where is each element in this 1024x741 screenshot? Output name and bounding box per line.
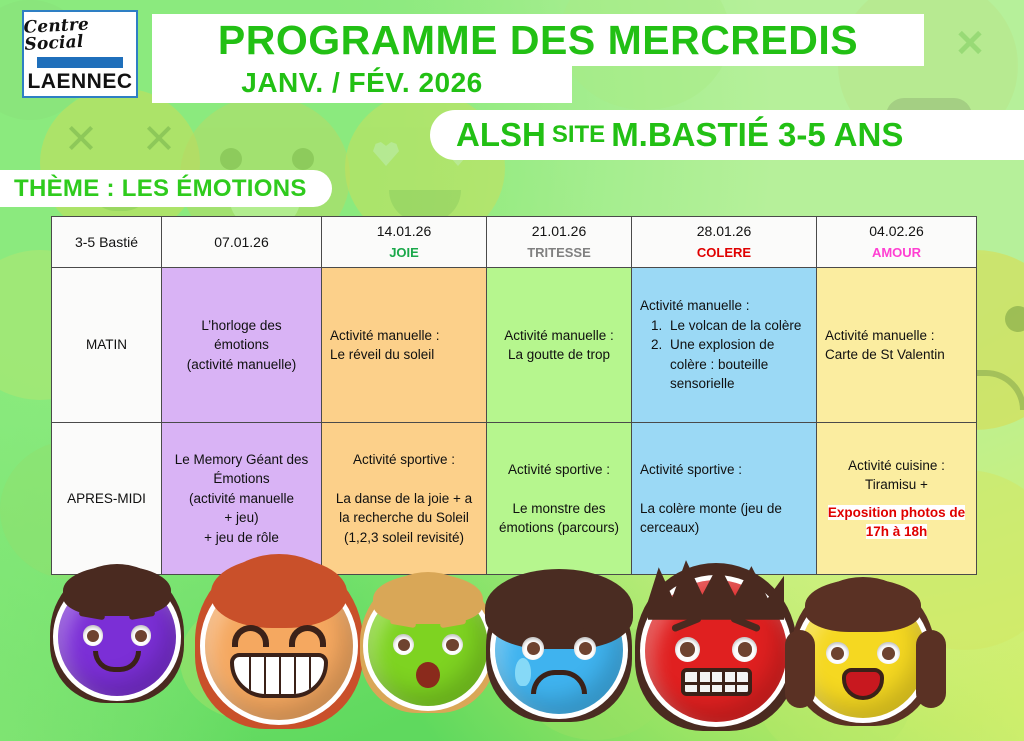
activity-text: Activité sportive : La danse de la joie …: [330, 450, 478, 548]
table-corner-cell: 3-5 Bastié: [52, 217, 162, 268]
activity-text: L’horloge des émotions (activité manuell…: [170, 316, 313, 375]
hair-fringe: [63, 566, 172, 616]
activity-cell: L’horloge des émotions (activité manuell…: [162, 268, 322, 423]
pupil: [882, 647, 895, 660]
eye-r: [131, 625, 152, 646]
row-label-matin: MATIN: [52, 268, 162, 423]
pupil: [527, 642, 540, 655]
eye-r: [732, 637, 757, 662]
activity-text: Activité cuisine : Tiramisu +: [825, 456, 968, 495]
activity-text: Activité sportive : Le monstre des émoti…: [495, 460, 623, 538]
column-emotion: AMOUR: [823, 244, 970, 263]
activity-text: Activité sportive : La colère monte (jeu…: [640, 460, 808, 538]
logo-script-text: Centre Social: [23, 14, 137, 54]
emoji-neutral-purple: [58, 578, 176, 696]
eye-r: [442, 634, 463, 655]
pupil: [135, 630, 147, 642]
pigtail-right: [916, 630, 946, 708]
activity-cell: Activité cuisine : Tiramisu +Exposition …: [817, 423, 977, 575]
column-date: 07.01.26: [168, 232, 315, 252]
activity-text: Activité manuelle : Le réveil du soleil: [330, 326, 478, 365]
pupil: [738, 642, 752, 656]
activity-cell: Activité sportive : Le monstre des émoti…: [487, 423, 632, 575]
hair-fringe: [211, 557, 347, 628]
alsh-site-name: M.BASTIÉ 3-5 ANS: [611, 116, 903, 154]
pupil: [446, 639, 458, 651]
row-label-apres-midi: APRES-MIDI: [52, 423, 162, 575]
activity-text: Le Memory Géant des Émotions (activité m…: [170, 450, 313, 548]
emoji-anger-red: [645, 580, 787, 722]
page-title: PROGRAMME DES MERCREDIS: [218, 17, 858, 64]
column-date: 14.01.26: [328, 221, 480, 241]
theme-banner: THÈME : LES ÉMOTIONS: [0, 170, 332, 207]
column-emotion: TRITESSE: [493, 244, 625, 263]
activity-list: Le volcan de la colèreUne explosion de c…: [640, 316, 808, 394]
pupil: [680, 642, 694, 656]
alsh-site-word: SITE: [552, 121, 605, 149]
pupil: [87, 630, 99, 642]
mouth: [230, 653, 328, 697]
poster-title-banner: PROGRAMME DES MERCREDIS: [152, 14, 924, 66]
eye-r: [574, 637, 596, 659]
activity-cell: Activité manuelle : La goutte de trop: [487, 268, 632, 423]
mouth: [416, 662, 440, 688]
page-subtitle: JANV. / FÉV. 2026: [241, 67, 482, 99]
column-date: 04.02.26: [823, 221, 970, 241]
emoji-surprise-green: [368, 586, 488, 706]
alsh-prefix: ALSH: [456, 116, 546, 154]
logo-name-text: LAENNEC: [27, 71, 132, 92]
corner-label: 3-5 Bastié: [58, 232, 155, 252]
eye-l: [522, 637, 544, 659]
eye-l: [83, 625, 104, 646]
poster-subtitle-banner: JANV. / FÉV. 2026: [152, 63, 572, 103]
activity-list-item: Le volcan de la colère: [666, 316, 808, 336]
eye-l: [826, 642, 848, 664]
column-date: 28.01.26: [638, 221, 810, 241]
theme-label: THÈME : LES ÉMOTIONS: [14, 175, 307, 203]
poster-canvas: Centre Social LAENNEC PROGRAMME DES MERC…: [0, 0, 1024, 741]
tear-drop: [515, 658, 530, 686]
activity-cell: Activité manuelle : Le réveil du soleil: [322, 268, 487, 423]
table-row: MATINL’horloge des émotions (activité ma…: [52, 268, 977, 423]
emoji-joy-orange: [205, 572, 353, 720]
logo-centre-social-laennec: Centre Social LAENNEC: [22, 10, 138, 98]
activity-cell: Activité manuelle :Le volcan de la colèr…: [632, 268, 817, 423]
program-table: 3-5 Bastié07.01.2614.01.26JOIE21.01.26TR…: [51, 216, 977, 575]
column-emotion: JOIE: [328, 244, 480, 263]
hair-fringe: [485, 569, 633, 648]
table-header-cell: 14.01.26JOIE: [322, 217, 487, 268]
pigtail-left: [785, 630, 815, 708]
activity-cell: Activité manuelle : Carte de St Valentin: [817, 268, 977, 423]
column-emotion: COLERE: [638, 244, 810, 263]
pupil: [831, 647, 844, 660]
logo-blue-bar: [37, 57, 123, 68]
alsh-banner: ALSH SITE M.BASTIÉ 3-5 ANS: [430, 110, 1024, 160]
activity-text: Activité manuelle :: [640, 296, 808, 316]
highlight-wrap: Exposition photos de 17h à 18h: [825, 503, 968, 542]
activity-text: Activité manuelle : Carte de St Valentin: [825, 326, 968, 365]
table-row: APRES-MIDILe Memory Géant des Émotions (…: [52, 423, 977, 575]
table-header-cell: 07.01.26: [162, 217, 322, 268]
column-date: 21.01.26: [493, 221, 625, 241]
hair-fringe: [805, 579, 921, 632]
emoji-sad-blue: [495, 586, 623, 714]
pupil: [398, 639, 410, 651]
table-header-cell: 21.01.26TRITESSE: [487, 217, 632, 268]
activity-cell: Le Memory Géant des Émotions (activité m…: [162, 423, 322, 575]
eye-l: [675, 637, 700, 662]
activity-text: Activité manuelle : La goutte de trop: [495, 326, 623, 365]
hair-fringe: [373, 574, 483, 624]
exposition-highlight: Exposition photos de 17h à 18h: [828, 505, 965, 540]
activity-cell: Activité sportive : La danse de la joie …: [322, 423, 487, 575]
table-header-cell: 04.02.26AMOUR: [817, 217, 977, 268]
pupil: [579, 642, 592, 655]
activity-list-item: Une explosion de colère : bouteille sens…: [666, 335, 808, 394]
table-header-row: 3-5 Bastié07.01.2614.01.26JOIE21.01.26TR…: [52, 217, 977, 268]
table-header-cell: 28.01.26COLERE: [632, 217, 817, 268]
activity-cell: Activité sportive : La colère monte (jeu…: [632, 423, 817, 575]
mouth: [681, 668, 752, 696]
eye-r: [877, 642, 899, 664]
emoji-happy-yellow: [800, 592, 926, 718]
